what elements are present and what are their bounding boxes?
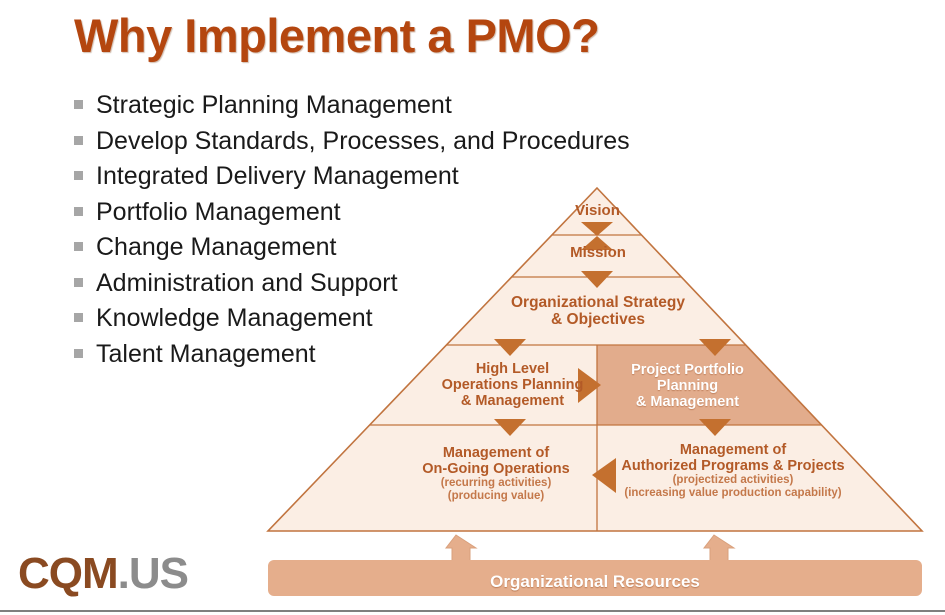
pyramid-label-highlevel-line3: & Management	[461, 393, 564, 409]
pyramid-label-ongoing-operations: Management of On-Going Operations (recur…	[400, 445, 592, 503]
bullet-square-icon	[74, 100, 83, 109]
pyramid-label-organizational-resources: Organizational Resources	[270, 572, 920, 591]
pyramid-label-highlevel-line2: Operations Planning	[442, 377, 584, 393]
pyramid-label-ongoing-line2: On-Going Operations	[422, 461, 569, 477]
bullet-square-icon	[74, 136, 83, 145]
bullet-square-icon	[74, 171, 83, 180]
logo-secondary-text: .US	[118, 549, 188, 598]
page-title: Why Implement a PMO?	[74, 8, 599, 63]
pyramid-label-authorized-sub2: (increasing value production capability)	[600, 487, 866, 500]
slide-canvas: Why Implement a PMO? Strategic Planning …	[0, 0, 945, 615]
arrow-resources-to-projects-icon	[704, 535, 734, 562]
arrow-highlevel-to-ongoing-icon	[494, 419, 526, 436]
pyramid-label-ppm-line2: Planning	[657, 378, 718, 394]
benefits-list: Strategic Planning Management Develop St…	[74, 93, 714, 377]
bullet-square-icon	[74, 313, 83, 322]
arrow-authorized-to-ongoing-left-icon	[592, 458, 616, 493]
footer-divider	[0, 610, 945, 612]
list-item: Knowledge Management	[74, 306, 714, 342]
list-item: Strategic Planning Management	[74, 93, 714, 129]
list-item-label: Change Management	[96, 235, 336, 260]
list-item: Change Management	[74, 235, 714, 271]
list-item: Develop Standards, Processes, and Proced…	[74, 129, 714, 165]
list-item: Portfolio Management	[74, 200, 714, 236]
list-item-label: Portfolio Management	[96, 200, 341, 225]
pyramid-label-ongoing-sub1: (recurring activities)	[400, 477, 592, 490]
list-item-label: Knowledge Management	[96, 306, 373, 331]
list-item-label: Integrated Delivery Management	[96, 164, 459, 189]
list-item: Administration and Support	[74, 271, 714, 307]
bullet-square-icon	[74, 278, 83, 287]
list-item: Integrated Delivery Management	[74, 164, 714, 200]
pyramid-label-ongoing-line1: Management of	[443, 445, 549, 461]
logo-primary-text: CQM	[18, 549, 118, 598]
list-item-label: Administration and Support	[96, 271, 398, 296]
pyramid-label-ongoing-sub2: (producing value)	[400, 490, 592, 503]
bullet-square-icon	[74, 207, 83, 216]
pyramid-label-authorized-line2: Authorized Programs & Projects	[621, 458, 844, 474]
arrow-resources-to-operations-icon	[446, 535, 476, 562]
support-arrows	[446, 535, 734, 562]
bullet-square-icon	[74, 242, 83, 251]
pyramid-label-authorized-sub1: (projectized activities)	[600, 474, 866, 487]
pyramid-label-authorized-programs: Management of Authorized Programs & Proj…	[600, 442, 866, 500]
list-item-label: Strategic Planning Management	[96, 93, 452, 118]
arrow-portfolio-to-authorized-icon	[699, 419, 731, 436]
list-item-label: Develop Standards, Processes, and Proced…	[96, 129, 630, 154]
organizational-resources-bar	[268, 560, 922, 596]
pyramid-label-ppm-line3: & Management	[636, 394, 739, 410]
cqm-us-logo: CQM.US	[18, 552, 188, 596]
list-item-label: Talent Management	[96, 342, 316, 367]
list-item: Talent Management	[74, 342, 714, 378]
pyramid-label-authorized-line1: Management of	[680, 442, 786, 458]
bullet-square-icon	[74, 349, 83, 358]
